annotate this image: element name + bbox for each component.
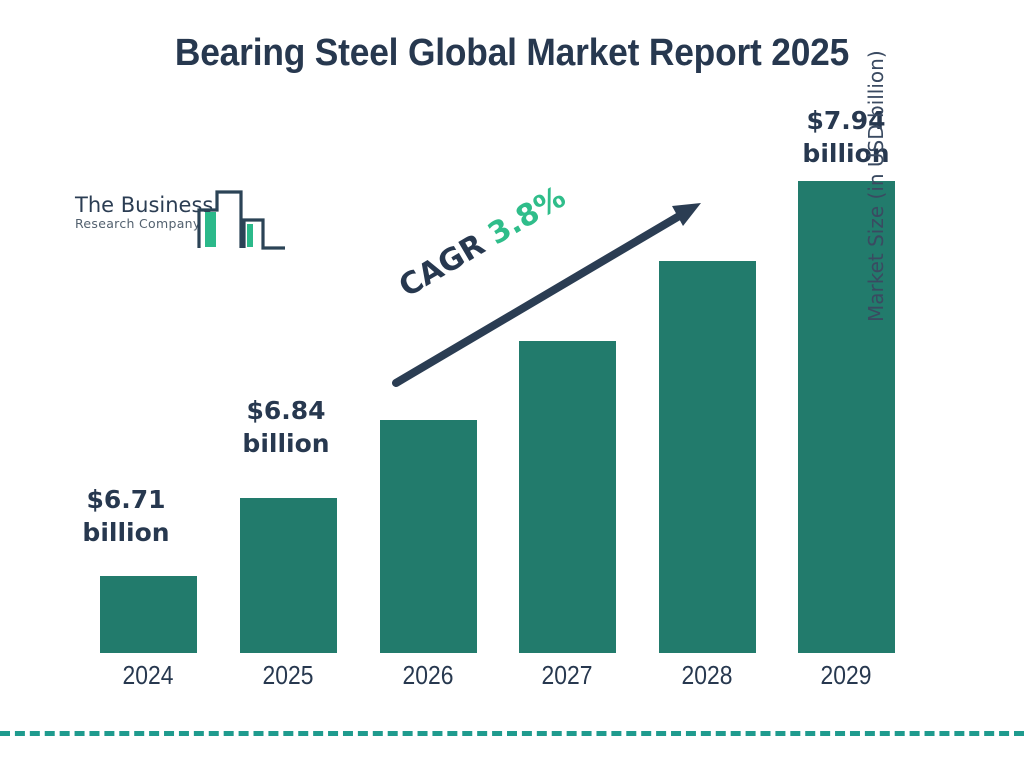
- logo-text: The Business Research Company: [75, 194, 205, 232]
- page-title: Bearing Steel Global Market Report 2025: [36, 32, 988, 75]
- bar-label-2029-amount: $7.94: [786, 104, 906, 137]
- bar-2026: [380, 420, 477, 653]
- logo-line-1: The Business: [75, 194, 205, 216]
- bar-label-2024-unit: billion: [66, 516, 186, 549]
- x-tick-2027: 2027: [523, 660, 611, 691]
- bar-label-2029-unit: billion: [786, 137, 906, 170]
- x-tick-2024: 2024: [104, 660, 192, 691]
- bar-label-2024: $6.71 billion: [66, 483, 186, 549]
- bar-2025: [240, 498, 337, 653]
- x-tick-2025: 2025: [244, 660, 332, 691]
- x-tick-2028: 2028: [663, 660, 751, 691]
- bar-2028: [659, 261, 756, 653]
- cagr-value: 3.8%: [482, 180, 571, 252]
- bar-label-2025: $6.84 billion: [226, 394, 346, 460]
- x-tick-2026: 2026: [384, 660, 472, 691]
- chart-page: Bearing Steel Global Market Report 2025 …: [0, 0, 1024, 768]
- y-axis-label: Market Size (in USD billion): [864, 0, 888, 322]
- cagr-word: CAGR: [393, 227, 491, 304]
- x-tick-2029: 2029: [802, 660, 890, 691]
- bar-label-2029: $7.94 billion: [786, 104, 906, 170]
- company-logo: The Business Research Company: [75, 186, 287, 258]
- bar-label-2025-unit: billion: [226, 427, 346, 460]
- logo-line-2: Research Company: [75, 216, 205, 232]
- bar-label-2025-amount: $6.84: [226, 394, 346, 427]
- bar-2027: [519, 341, 616, 653]
- cagr-annotation: CAGR 3.8%: [393, 180, 572, 305]
- bottom-divider: [0, 731, 1024, 736]
- bar-label-2024-amount: $6.71: [66, 483, 186, 516]
- bar-2024: [100, 576, 197, 653]
- bar-chart-logo-mark: [197, 186, 287, 256]
